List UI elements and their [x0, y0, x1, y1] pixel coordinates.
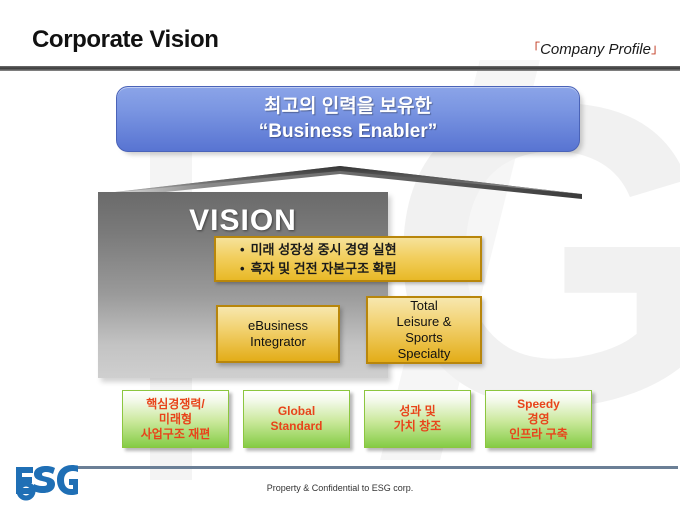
strategy-pillar-box: 핵심경쟁력/ 미래형 사업구조 재편: [122, 390, 229, 448]
gold-box-line: Specialty: [397, 346, 452, 362]
pillar-lines: Speedy 경영 인프라 구축: [509, 397, 568, 442]
pillar-lines: 핵심경쟁력/ 미래형 사업구조 재편: [141, 397, 211, 442]
pillar-line: 핵심경쟁력/: [141, 397, 211, 412]
vision-label: VISION: [98, 204, 388, 238]
business-domain-box-ebusiness: eBusiness Integrator: [216, 305, 340, 363]
vision-bullet-row: •흑자 및 건전 자본구조 확립: [240, 259, 480, 278]
vision-bullets-box: •미래 성장성 중시 경영 실현 •흑자 및 건전 자본구조 확립: [214, 236, 482, 282]
confidentiality-note: Property & Confidential to ESG corp.: [0, 483, 680, 493]
company-profile-tag: 「Company Profile」: [527, 38, 664, 58]
slide-canvas: G Corporate Vision 「Company Profile」 최고의…: [0, 0, 680, 510]
gold-box-line: Leisure &: [397, 314, 452, 330]
pillar-line: 경영: [509, 412, 568, 427]
gold-box-lines: eBusiness Integrator: [248, 318, 308, 350]
gold-box-line: Integrator: [248, 334, 308, 350]
vision-statement-banner: 최고의 인력을 보유한 “Business Enabler”: [116, 86, 580, 152]
gold-box-line: Total: [397, 298, 452, 314]
gold-box-line: Sports: [397, 330, 452, 346]
pillar-line: Global: [270, 404, 322, 419]
vision-bullet-row: •미래 성장성 중시 경영 실현: [240, 240, 480, 259]
footer-divider: [78, 466, 678, 469]
banner-line-1: 최고의 인력을 보유한: [264, 94, 432, 119]
strategy-pillar-box: 성과 및 가치 창조: [364, 390, 471, 448]
bracket-close: 」: [651, 41, 664, 56]
banner-line-2: “Business Enabler”: [259, 119, 437, 144]
gold-box-lines: Total Leisure & Sports Specialty: [397, 298, 452, 362]
strategy-pillars-row: 핵심경쟁력/ 미래형 사업구조 재편 Global Standard 성과 및 …: [0, 390, 680, 452]
strategy-pillar-box: Speedy 경영 인프라 구축: [485, 390, 592, 448]
vision-bullet-text: 흑자 및 건전 자본구조 확립: [251, 261, 397, 276]
bracket-open: 「: [527, 41, 540, 56]
strategy-pillar-box: Global Standard: [243, 390, 350, 448]
pillar-lines: Global Standard: [270, 404, 322, 434]
bullet-dot-icon: •: [240, 261, 245, 276]
page-title: Corporate Vision: [32, 26, 219, 54]
pillar-line: 인프라 구축: [509, 427, 568, 442]
company-profile-label: Company Profile: [540, 41, 651, 58]
vision-bullet-text: 미래 성장성 중시 경영 실현: [251, 242, 397, 257]
business-domain-box-leisure: Total Leisure & Sports Specialty: [366, 296, 482, 364]
bullet-dot-icon: •: [240, 242, 245, 257]
esg-logo-icon: [12, 458, 78, 506]
pillar-line: Speedy: [509, 397, 568, 412]
header-divider: [0, 66, 680, 71]
pillar-line: 미래형: [141, 412, 211, 427]
pillar-line: Standard: [270, 419, 322, 434]
pillar-line: 사업구조 재편: [141, 427, 211, 442]
pillar-line: 성과 및: [394, 404, 442, 419]
pillar-lines: 성과 및 가치 창조: [394, 404, 442, 434]
slide-header: Corporate Vision 「Company Profile」: [0, 0, 680, 72]
pillar-line: 가치 창조: [394, 419, 442, 434]
gold-box-line: eBusiness: [248, 318, 308, 334]
